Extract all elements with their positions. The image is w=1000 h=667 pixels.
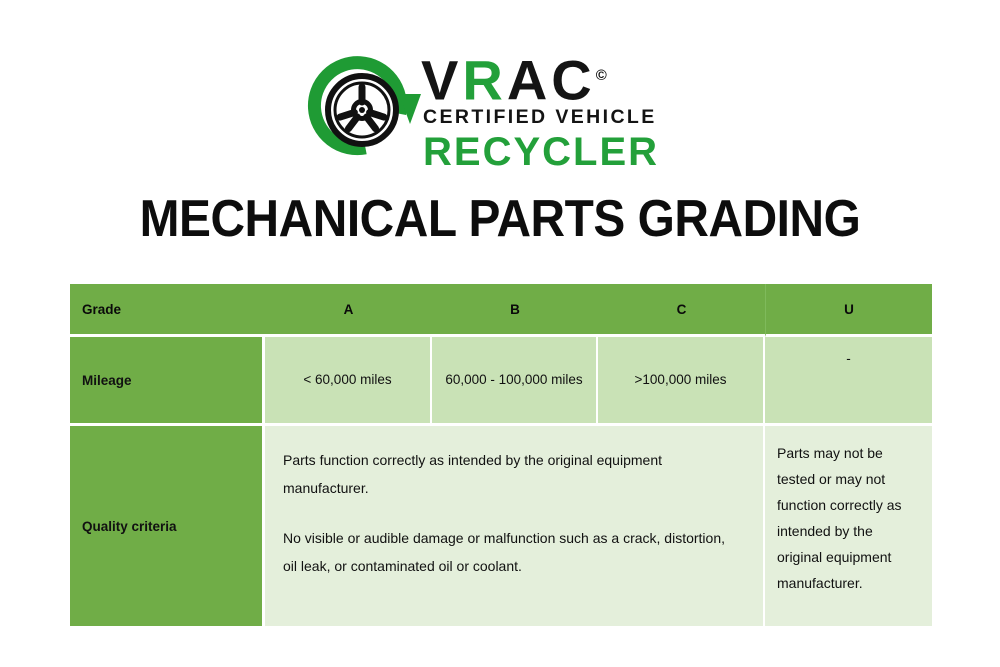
quality-paragraph-2: No visible or audible damage or malfunct… xyxy=(283,524,741,580)
page-title: MECHANICAL PARTS GRADING xyxy=(40,190,960,248)
row-label-quality: Quality criteria xyxy=(70,426,265,626)
mileage-value-c: >100,000 miles xyxy=(598,337,765,426)
vrac-logo: VRAC© CERTIFIED VEHICLE RECYCLER xyxy=(303,48,703,176)
table-row-quality: Quality criteria Parts function correctl… xyxy=(70,426,932,626)
logo-letters-ac: AC xyxy=(507,49,596,112)
table-header-row: Grade A B C U xyxy=(70,284,932,337)
header-cell-grade: Grade xyxy=(70,284,265,337)
header-cell-b: B xyxy=(432,284,598,337)
grading-table: Grade A B C U Mileage < 60,000 miles 60,… xyxy=(70,284,932,626)
logo-tagline: CERTIFIED VEHICLE xyxy=(423,107,657,127)
header-cell-a: A xyxy=(265,284,432,337)
logo-wordmark-recycler: RECYCLER xyxy=(423,131,659,173)
quality-criteria-u: Parts may not be tested or may not funct… xyxy=(765,426,932,626)
logo-wordmark-vrac: VRAC© xyxy=(421,48,607,109)
copyright-icon: © xyxy=(596,67,607,84)
mileage-value-u: - xyxy=(765,337,932,426)
quality-paragraph-1: Parts function correctly as intended by … xyxy=(283,446,741,502)
logo-letter-v: V xyxy=(421,49,462,112)
logo-wordmark: VRAC© CERTIFIED VEHICLE RECYCLER xyxy=(421,48,703,176)
logo-letter-r: R xyxy=(462,49,506,112)
header-cell-c: C xyxy=(598,284,765,337)
quality-criteria-abc: Parts function correctly as intended by … xyxy=(265,426,765,626)
green-circular-arrow-wheel-icon xyxy=(303,54,421,166)
header-cell-u: U xyxy=(765,284,932,337)
mileage-value-b: 60,000 - 100,000 miles xyxy=(432,337,598,426)
table-row-mileage: Mileage < 60,000 miles 60,000 - 100,000 … xyxy=(70,337,932,426)
mileage-value-a: < 60,000 miles xyxy=(265,337,432,426)
row-label-mileage: Mileage xyxy=(70,337,265,426)
